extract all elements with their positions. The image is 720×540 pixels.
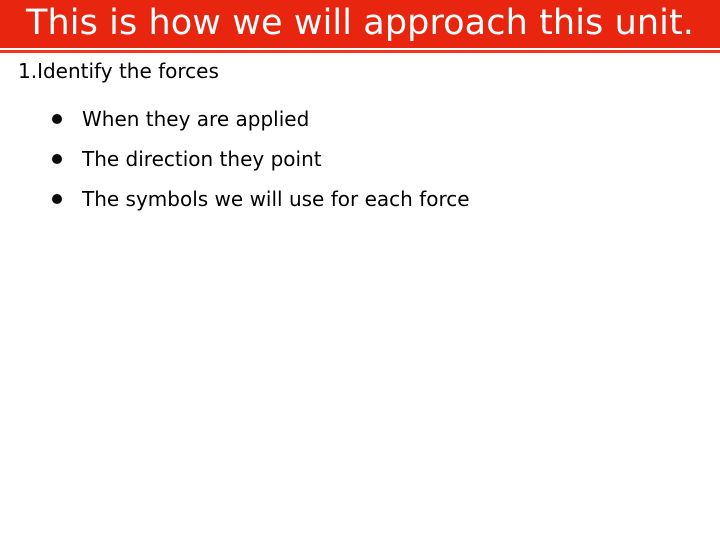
page-title: This is how we will approach this unit.: [26, 6, 694, 43]
list-item: When they are applied: [0, 99, 720, 139]
list-item-label: The direction they point: [82, 146, 322, 172]
numbered-item-1: 1.Identify the forces: [18, 58, 219, 84]
title-underline-rule: [0, 50, 720, 53]
bullet-list: When they are applied The direction they…: [0, 99, 720, 219]
list-item-label: When they are applied: [82, 106, 309, 132]
slide: This is how we will approach this unit. …: [0, 0, 720, 540]
filled-circle-bullet-icon: [52, 194, 62, 204]
filled-circle-bullet-icon: [52, 154, 62, 164]
list-item: The symbols we will use for each force: [0, 179, 720, 219]
list-item-label: The symbols we will use for each force: [82, 186, 470, 212]
slide-title-bar: This is how we will approach this unit.: [0, 0, 720, 48]
slide-body: 1.Identify the forces When they are appl…: [0, 55, 720, 540]
list-item: The direction they point: [0, 139, 720, 179]
filled-circle-bullet-icon: [52, 114, 62, 124]
